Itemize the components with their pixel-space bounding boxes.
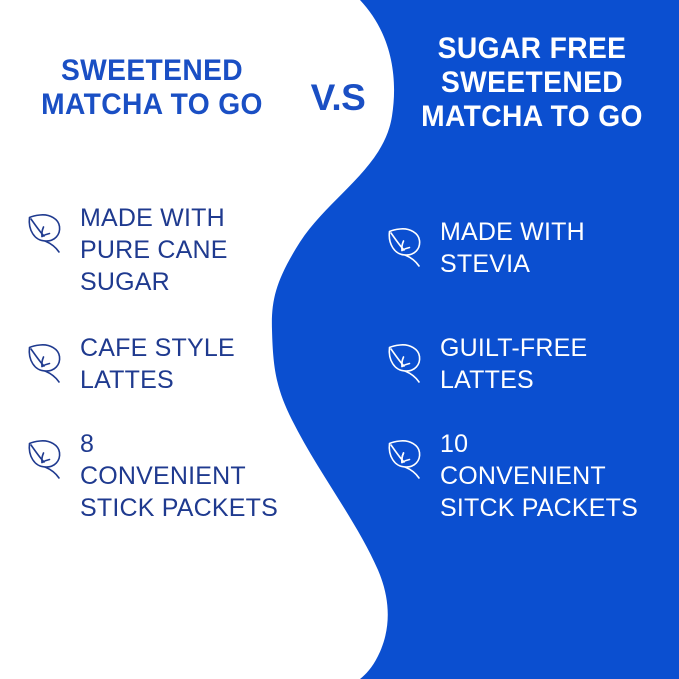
left-feature-3: 8 CONVENIENT STICK PACKETS [22,428,327,524]
leaf-icon [22,434,68,480]
left-feature-2: CAFE STYLE LATTES [22,332,322,396]
leaf-icon [22,338,68,384]
leaf-icon [22,208,68,254]
left-feature-3-text: 8 CONVENIENT STICK PACKETS [80,428,278,524]
versus-label: V.S [300,79,376,116]
left-product-heading: SWEETENED MATCHA TO GO [15,54,289,122]
comparison-infographic: SWEETENED MATCHA TO GO MADE WITH PURE CA… [0,0,679,679]
left-feature-1-text: MADE WITH PURE CANE SUGAR [80,202,228,298]
left-feature-2-text: CAFE STYLE LATTES [80,332,235,396]
left-feature-1: MADE WITH PURE CANE SUGAR [22,202,322,298]
left-product-column: SWEETENED MATCHA TO GO MADE WITH PURE CA… [0,0,340,679]
